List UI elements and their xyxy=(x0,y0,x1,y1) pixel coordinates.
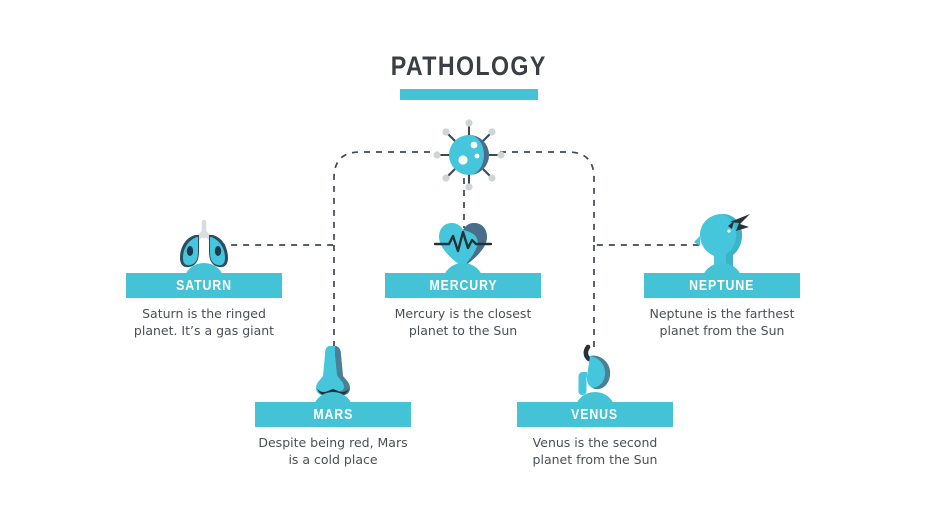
label-wrap-saturn: SATURN xyxy=(126,273,282,298)
infographic-canvas: PATHOLOGY xyxy=(0,0,937,527)
node-label: MERCURY xyxy=(429,277,497,294)
label-wrap-mars: MARS xyxy=(255,402,411,427)
stomach-icon xyxy=(490,341,700,399)
label-bar-neptune: NEPTUNE xyxy=(644,273,800,298)
label-bar-venus: VENUS xyxy=(517,402,673,427)
node-description: Despite being red, Mars is a cold place xyxy=(228,434,438,468)
label-bar-saturn: SATURN xyxy=(126,273,282,298)
node-label: SATURN xyxy=(176,277,232,294)
label-wrap-mercury: MERCURY xyxy=(385,273,541,298)
node-mercury[interactable]: MERCURY Mercury is the closest planet to… xyxy=(358,212,568,339)
node-description: Saturn is the ringed planet. It’s a gas … xyxy=(99,305,309,339)
heart-pulse-icon xyxy=(358,212,568,270)
lungs-icon xyxy=(99,212,309,270)
node-description: Venus is the second planet from the Sun xyxy=(490,434,700,468)
label-wrap-neptune: NEPTUNE xyxy=(644,273,800,298)
node-saturn[interactable]: SATURN Saturn is the ringed planet. It’s… xyxy=(99,212,309,339)
label-wrap-venus: VENUS xyxy=(517,402,673,427)
node-description: Neptune is the farthest planet from the … xyxy=(617,305,827,339)
node-label: VENUS xyxy=(572,406,619,423)
node-mars[interactable]: MARS Despite being red, Mars is a cold p… xyxy=(228,341,438,468)
virus-icon xyxy=(432,118,506,192)
label-bar-mars: MARS xyxy=(255,402,411,427)
head-pain-icon xyxy=(617,205,827,270)
page-title: PATHOLOGY xyxy=(390,52,546,80)
title-underline-bar xyxy=(400,89,538,100)
node-label: MARS xyxy=(313,406,353,423)
node-label: NEPTUNE xyxy=(689,277,754,294)
page-title-block: PATHOLOGY xyxy=(0,52,937,100)
node-description: Mercury is the closest planet to the Sun xyxy=(358,305,568,339)
node-venus[interactable]: VENUS Venus is the second planet from th… xyxy=(490,341,700,468)
label-bar-mercury: MERCURY xyxy=(385,273,541,298)
node-neptune[interactable]: NEPTUNE Neptune is the farthest planet f… xyxy=(617,205,827,339)
nose-icon xyxy=(228,341,438,399)
